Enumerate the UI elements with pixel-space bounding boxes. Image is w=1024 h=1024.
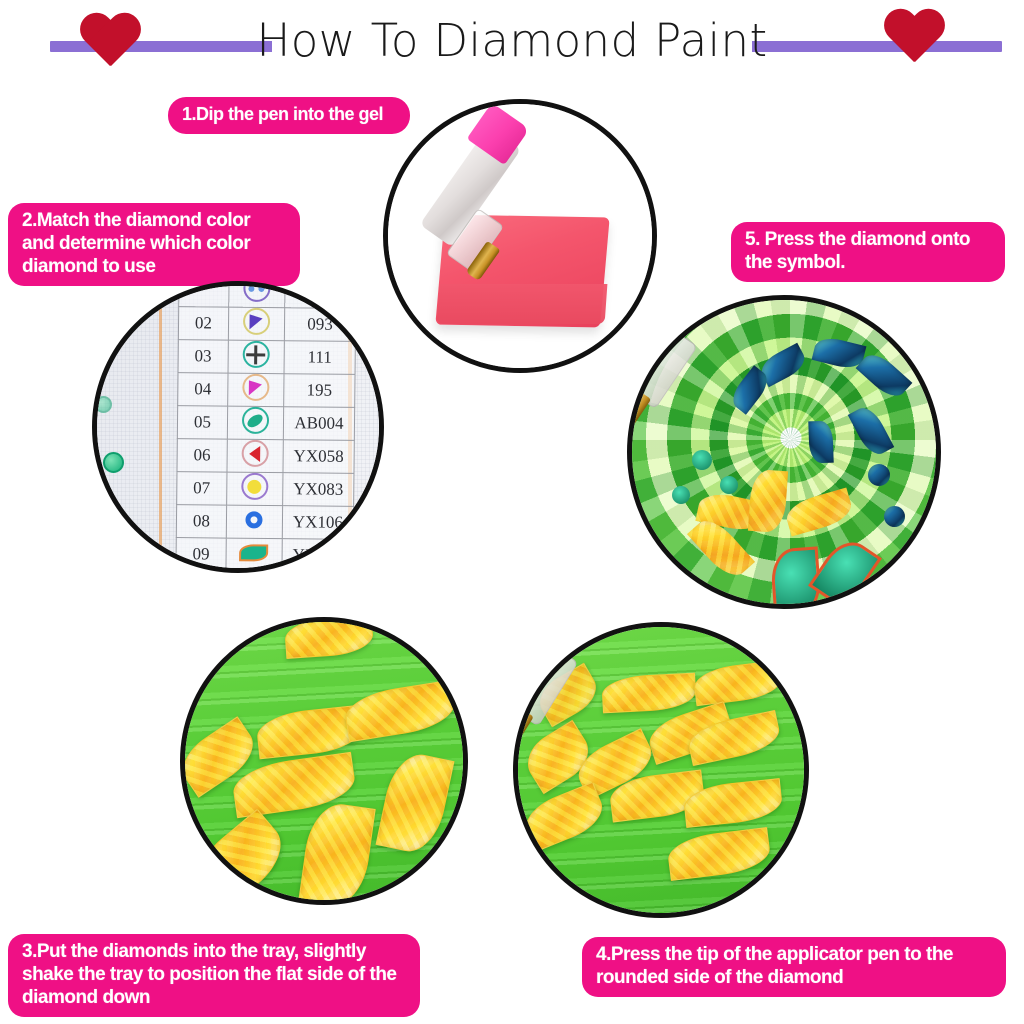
color-legend-table: 02802093031110419505AB00406YX05807YX0830… <box>175 281 356 573</box>
legend-symbol-cell <box>226 505 283 539</box>
legend-number: 04 <box>178 373 228 407</box>
legend-symbol-cell <box>226 472 283 506</box>
tray-diamond <box>692 660 784 706</box>
legend-symbol-arrow-left <box>241 440 268 467</box>
legend-symbol-cell <box>226 538 283 572</box>
legend-symbol-oval <box>242 407 269 434</box>
legend-row: 07YX083 <box>177 472 354 507</box>
legend-code: 195 <box>284 374 355 408</box>
photo-pen-picks-diamond <box>513 622 809 918</box>
legend-number: 08 <box>176 505 226 539</box>
mandala-gem-round <box>884 506 905 527</box>
legend-row: 04195 <box>178 373 355 408</box>
legend-row: 05AB004 <box>177 406 354 441</box>
mandala-gem-round <box>692 450 712 470</box>
mandala-gem-round <box>720 476 738 494</box>
photo-color-chart: 02802093031110419505AB00406YX05807YX0830… <box>92 281 384 573</box>
legend-row: 03111 <box>178 340 355 375</box>
legend-code: 111 <box>284 341 355 375</box>
photo-diamonds-in-tray <box>180 617 468 905</box>
legend-code: YX083 <box>283 473 354 507</box>
step-4-label: 4.Press the tip of the applicator pen to… <box>582 937 1006 997</box>
legend-symbol-plus <box>242 341 269 368</box>
legend-number: 02 <box>178 307 228 341</box>
legend-code: YX125 <box>282 539 353 573</box>
legend-number: 07 <box>177 472 227 506</box>
legend-code: 093 <box>284 308 355 342</box>
canvas-fabric-texture: 02802093031110419505AB00406YX05807YX0830… <box>97 286 379 568</box>
legend-symbol-ring <box>241 506 268 533</box>
legend-number: 05 <box>177 406 227 440</box>
canvas-orange-line-left <box>159 286 162 568</box>
tray-diamond <box>519 782 610 853</box>
legend-symbol-leaf <box>240 539 267 566</box>
legend-symbol-cell <box>227 406 284 440</box>
mandala-gem-round <box>868 464 890 486</box>
pink-gel-pad-side <box>437 284 608 324</box>
legend-row: 028 <box>179 281 356 308</box>
legend-code: 028 <box>285 281 356 308</box>
gel-photo-background <box>388 104 652 368</box>
legend-symbol-triangle <box>243 308 270 335</box>
legend-symbol-cell <box>228 307 285 341</box>
green-tray-surface <box>185 622 463 900</box>
photo-dip-pen-into-gel <box>383 99 657 373</box>
color-legend-rows: 02802093031110419505AB00406YX05807YX0830… <box>176 281 356 572</box>
legend-number: 06 <box>177 439 227 473</box>
tray-diamond <box>601 673 697 714</box>
stray-green-diamond-1 <box>103 452 124 473</box>
infographic-canvas: How To Diamond Paint 1.Dip the pen into … <box>0 0 1024 1024</box>
legend-symbol-cell <box>228 340 285 374</box>
step-5-label: 5. Press the diamond onto the symbol. <box>731 222 1005 282</box>
legend-code: AB004 <box>283 407 354 441</box>
legend-symbol-dot <box>241 473 268 500</box>
tray-diamond <box>666 827 772 881</box>
page-title: How To Diamond Paint <box>0 14 1024 68</box>
step-2-label: 2.Match the diamond color and determine … <box>8 203 300 286</box>
mandala-gem-round <box>672 486 690 504</box>
tray-diamond <box>284 617 374 659</box>
tray-diamond <box>342 680 458 743</box>
legend-number: 03 <box>178 340 228 374</box>
step-1-label: 1.Dip the pen into the gel <box>168 97 410 134</box>
tray-diamond <box>375 749 454 857</box>
legend-row: 08YX106 <box>176 505 353 540</box>
tray-diamond <box>298 800 376 905</box>
green-tray-surface <box>518 627 804 913</box>
legend-code: YX058 <box>283 440 354 474</box>
photo-press-onto-symbol <box>627 295 941 609</box>
legend-code: YX106 <box>282 506 353 540</box>
legend-number: 09 <box>176 538 226 572</box>
legend-symbol-double-dot-circle <box>243 281 270 302</box>
legend-symbol-cell <box>227 373 284 407</box>
stray-green-diamond-2 <box>95 396 112 413</box>
legend-row: 09YX125 <box>176 538 353 573</box>
legend-symbol-triangle <box>242 374 269 401</box>
mandala-photo <box>632 300 936 604</box>
tray-diamond <box>185 809 294 905</box>
legend-row: 02093 <box>178 307 355 342</box>
step-3-label: 3.Put the diamonds into the tray, slight… <box>8 934 420 1017</box>
legend-symbol-cell <box>227 439 284 473</box>
legend-row: 06YX058 <box>177 439 354 474</box>
